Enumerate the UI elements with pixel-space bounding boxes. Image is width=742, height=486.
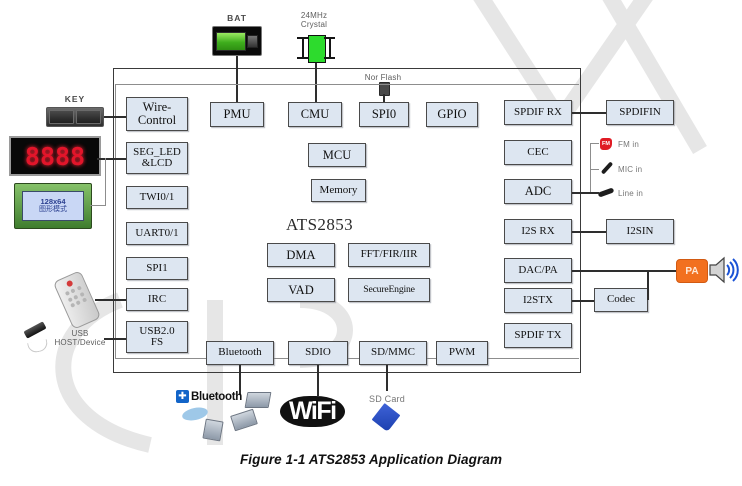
block-pmu[interactable]: PMU xyxy=(210,102,264,127)
ir-remote-icon xyxy=(53,270,102,330)
line-mic-stub xyxy=(590,169,599,170)
seven-segment-value: 8888 xyxy=(25,144,85,169)
crystal-label-line1: 24MHz xyxy=(292,11,336,20)
block-seg-led-lcd[interactable]: SEG_LED &LCD xyxy=(126,142,188,174)
block-adc[interactable]: ADC xyxy=(504,179,572,204)
block-cec[interactable]: CEC xyxy=(504,140,572,165)
block-i2s-rx[interactable]: I2S RX xyxy=(504,219,572,244)
line-lcd-v xyxy=(105,158,106,206)
block-uart[interactable]: UART0/1 xyxy=(126,222,188,245)
device-laptop-icon xyxy=(245,392,272,408)
line-remote-irc xyxy=(95,299,126,301)
line-bat-pmu xyxy=(236,56,238,102)
block-spdifin[interactable]: SPDIFIN xyxy=(606,100,674,125)
device-tablet-icon xyxy=(230,409,258,432)
block-memory[interactable]: Memory xyxy=(311,179,366,202)
block-bluetooth[interactable]: Bluetooth xyxy=(206,341,274,365)
block-secure-engine[interactable]: SecureEngine xyxy=(348,278,430,302)
block-spdif-rx[interactable]: SPDIF RX xyxy=(504,100,572,125)
block-dac-pa[interactable]: DAC/PA xyxy=(504,258,572,283)
sd-card-icon xyxy=(372,403,401,432)
block-fft-fir-iir[interactable]: FFT/FIR/IIR xyxy=(348,243,430,267)
line-norflash-spi0 xyxy=(383,94,385,102)
bluetooth-logo-text: Bluetooth xyxy=(191,391,242,403)
seven-segment-display-icon: 8888 xyxy=(9,136,101,176)
chip-name-label: ATS2853 xyxy=(286,215,353,235)
line-dacpa-pa xyxy=(572,270,676,272)
block-spdif-tx[interactable]: SPDIF TX xyxy=(504,323,572,348)
line-fm-stub xyxy=(590,143,599,144)
wifi-logo: WiFi xyxy=(280,396,345,427)
block-sdio[interactable]: SDIO xyxy=(288,341,348,365)
lcd-mode-text: 图形模式 xyxy=(39,206,67,214)
line-usb-usbblock xyxy=(104,338,126,340)
figure-caption: Figure 1-1 ATS2853 Application Diagram xyxy=(0,452,742,467)
line-sdmmc-sdcard xyxy=(386,365,388,391)
key-pad-icon xyxy=(46,107,104,127)
top-bus-horizontal xyxy=(115,84,579,85)
mic-icon xyxy=(601,161,613,174)
line-spdifrx-spdifin xyxy=(572,112,606,114)
block-gpio[interactable]: GPIO xyxy=(426,102,478,127)
block-sdmmc[interactable]: SD/MMC xyxy=(359,341,427,365)
line-in-icon xyxy=(598,187,615,197)
device-phone-icon xyxy=(202,419,223,442)
wifi-logo-text: WiFi xyxy=(280,396,345,427)
block-dma[interactable]: DMA xyxy=(267,243,335,267)
block-pwm[interactable]: PWM xyxy=(436,341,488,365)
usb-cable-icon xyxy=(27,339,49,354)
bluetooth-mark-icon: ✚ xyxy=(176,390,189,403)
battery-icon xyxy=(212,26,262,56)
block-usb20fs[interactable]: USB2.0 FS xyxy=(126,321,188,353)
line-i2stx-codec xyxy=(572,300,594,302)
nor-flash-label: Nor Flash xyxy=(363,73,403,82)
line-codec-pa-v xyxy=(647,270,649,300)
block-spi1[interactable]: SPI1 xyxy=(126,257,188,280)
block-twi[interactable]: TWI0/1 xyxy=(126,186,188,209)
block-mcu[interactable]: MCU xyxy=(308,143,366,167)
block-seg-led-line2: &LCD xyxy=(142,158,173,169)
lcd-display-icon: 128x64 图形模式 xyxy=(14,183,92,229)
block-irc[interactable]: IRC xyxy=(126,288,188,311)
block-wire-control[interactable]: Wire- Control xyxy=(126,97,188,131)
line-audioin-bus xyxy=(590,143,591,193)
block-usb-line2: FS xyxy=(151,337,163,348)
line-crystal-cmu xyxy=(315,63,317,102)
line-lcd-h xyxy=(90,205,106,206)
usb-stick-icon xyxy=(23,321,46,338)
fm-icon: FM xyxy=(600,138,612,150)
speaker-icon xyxy=(708,254,740,286)
block-vad[interactable]: VAD xyxy=(267,278,335,302)
line-adc-linein xyxy=(572,192,599,194)
line-seg-segled xyxy=(97,158,126,160)
line-i2srx-i2sin xyxy=(572,231,606,233)
block-wire-control-line2: Control xyxy=(138,114,176,127)
usb-label-line2: HOST/Device xyxy=(54,338,106,347)
block-i2sin[interactable]: I2SIN xyxy=(606,219,674,244)
crystal-icon xyxy=(296,33,336,63)
battery-label: BAT xyxy=(212,14,262,24)
line-in-label: Line in xyxy=(618,189,662,198)
mic-in-label: MIC in xyxy=(618,165,662,174)
line-key-wirecontrol xyxy=(104,116,126,118)
bluetooth-logo: ✚ Bluetooth xyxy=(176,390,242,403)
sd-card-label: SD Card xyxy=(360,394,414,404)
line-sdio-wifi xyxy=(317,365,319,396)
block-i2stx[interactable]: I2STX xyxy=(504,288,572,313)
pa-amp-icon: PA xyxy=(676,259,708,283)
block-codec[interactable]: Codec xyxy=(594,288,648,312)
fm-in-label: FM in xyxy=(618,140,662,149)
crystal-label-line2: Crystal xyxy=(292,20,336,29)
block-cmu[interactable]: CMU xyxy=(288,102,342,127)
usb-label-line1: USB xyxy=(54,329,106,338)
block-spi0[interactable]: SPI0 xyxy=(359,102,409,127)
left-bus-vertical xyxy=(115,84,116,359)
key-label: KEY xyxy=(46,95,104,105)
